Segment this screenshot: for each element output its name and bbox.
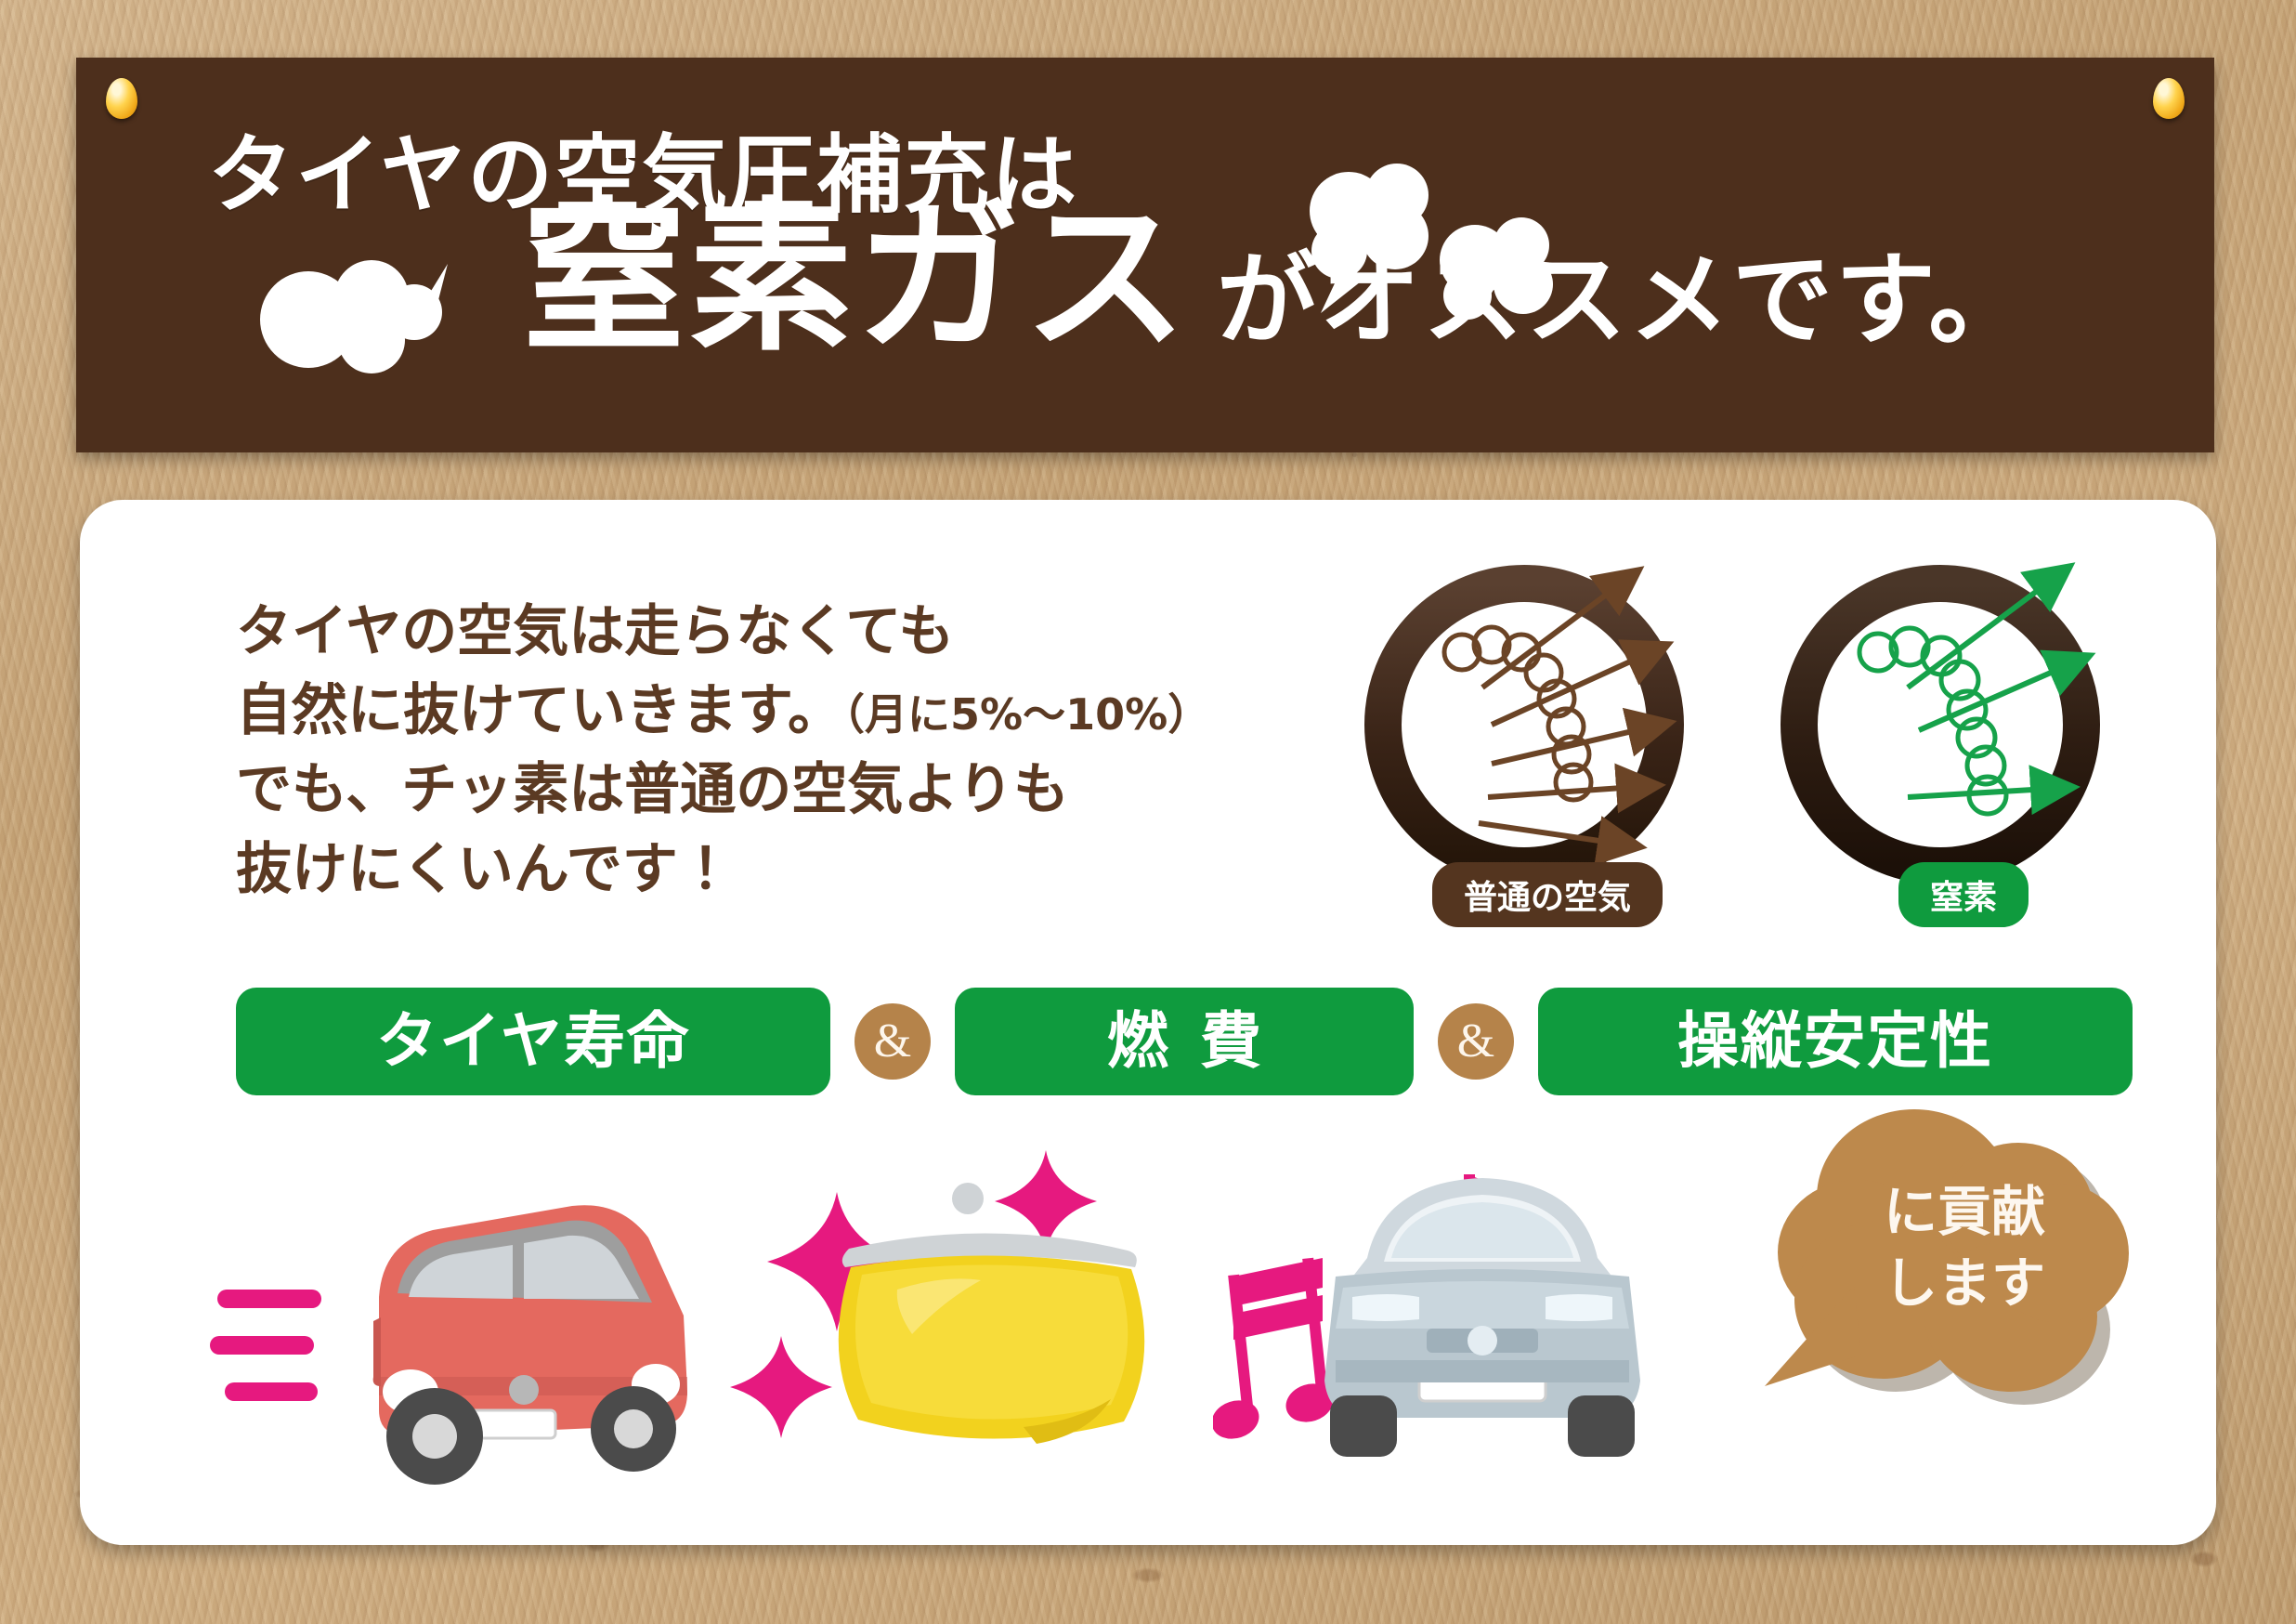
contribution-bubble: に貢献 します xyxy=(1774,1094,2155,1420)
yellow-coin-purse-icon xyxy=(804,1178,1176,1475)
banner-headline: 窒素ガス xyxy=(522,197,1191,360)
benefit-pill-tire-life[interactable]: タイヤ寿命 xyxy=(236,988,830,1095)
paragraph-line-1: タイヤの空気は走らなくても xyxy=(236,593,1378,672)
paragraph-line-2-row: 自然に抜けていきます。（月に5%～10%） xyxy=(236,672,1378,751)
pushpin-icon xyxy=(106,78,137,119)
diagram-label-nitrogen: 窒素 xyxy=(1898,862,2029,927)
diagram-normal-air: 普通の空気 xyxy=(1352,548,1742,948)
benefit-pill-fuel-economy[interactable]: 燃費 xyxy=(955,988,1414,1095)
paragraph-line-3: でも、チッ素は普通の空気よりも xyxy=(236,751,1378,830)
ampersand-separator: & xyxy=(854,1003,931,1080)
header-banner: タイヤの空気圧補充は 窒素ガス がオススメです。 xyxy=(76,58,2214,452)
red-car-icon xyxy=(294,1158,730,1501)
banner-headline-tail: がオススメです。 xyxy=(1217,219,2031,364)
contribution-text: に貢献 します xyxy=(1774,1176,2155,1318)
silver-car-front-icon xyxy=(1287,1146,1677,1490)
paragraph-note: （月に5%～10%） xyxy=(843,689,1210,740)
ampersand-separator: & xyxy=(1438,1003,1514,1080)
benefit-pill-handling-stability[interactable]: 操縦安定性 xyxy=(1538,988,2133,1095)
banner-title-row: 窒素ガス がオススメです。 xyxy=(522,197,2031,364)
pushpin-icon xyxy=(2153,78,2185,119)
permeation-diagrams: 普通の空気 xyxy=(1352,548,2188,948)
diagram-label-normal-air: 普通の空気 xyxy=(1432,862,1663,927)
explanation-paragraph: タイヤの空気は走らなくても 自然に抜けていきます。（月に5%～10%） でも、チ… xyxy=(236,593,1378,910)
content-card: タイヤの空気は走らなくても 自然に抜けていきます。（月に5%～10%） でも、チ… xyxy=(80,500,2216,1545)
cloud-puff-icon xyxy=(232,243,502,406)
paragraph-line-2: 自然に抜けていきます。 xyxy=(236,678,843,743)
paragraph-line-4: 抜けにくいんです！ xyxy=(236,831,1378,910)
benefit-pill-row: タイヤ寿命 & 燃費 & 操縦安定性 xyxy=(236,988,2133,1095)
diagram-nitrogen: 窒素 xyxy=(1768,548,2159,948)
